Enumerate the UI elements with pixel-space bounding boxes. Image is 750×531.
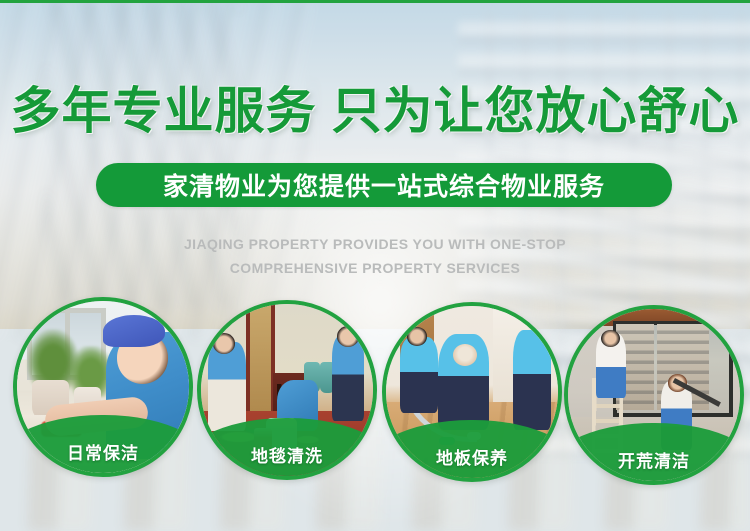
service-label-daily-cleaning: 日常保洁: [17, 439, 189, 464]
service-label-carpet-cleaning: 地毯清洗: [201, 442, 373, 467]
top-green-rule: [0, 0, 750, 3]
promo-banner: 多年专业服务 只为让您放心舒心 家清物业为您提供一站式综合物业服务 JIAQIN…: [0, 0, 750, 531]
service-label-floor-maintenance: 地板保养: [386, 444, 558, 469]
service-circle-carpet-cleaning[interactable]: 地毯清洗: [197, 300, 377, 480]
subtitle-english: JIAQING PROPERTY PROVIDES YOU WITH ONE-S…: [0, 232, 750, 280]
page-title: 多年专业服务 只为让您放心舒心: [0, 82, 750, 140]
tagline-text: 家清物业为您提供一站式综合物业服务: [163, 167, 605, 203]
subtitle-line-1: JIAQING PROPERTY PROVIDES YOU WITH ONE-S…: [0, 232, 750, 256]
service-circle-daily-cleaning[interactable]: 日常保洁: [13, 297, 193, 477]
service-circle-post-construction-cleaning[interactable]: 开荒清洁: [564, 305, 744, 485]
service-label-post-construction-cleaning: 开荒清洁: [568, 447, 740, 472]
subtitle-line-2: COMPREHENSIVE PROPERTY SERVICES: [0, 256, 750, 280]
tagline-pill: 家清物业为您提供一站式综合物业服务: [96, 163, 672, 207]
service-circle-floor-maintenance[interactable]: 地板保养: [382, 302, 562, 482]
